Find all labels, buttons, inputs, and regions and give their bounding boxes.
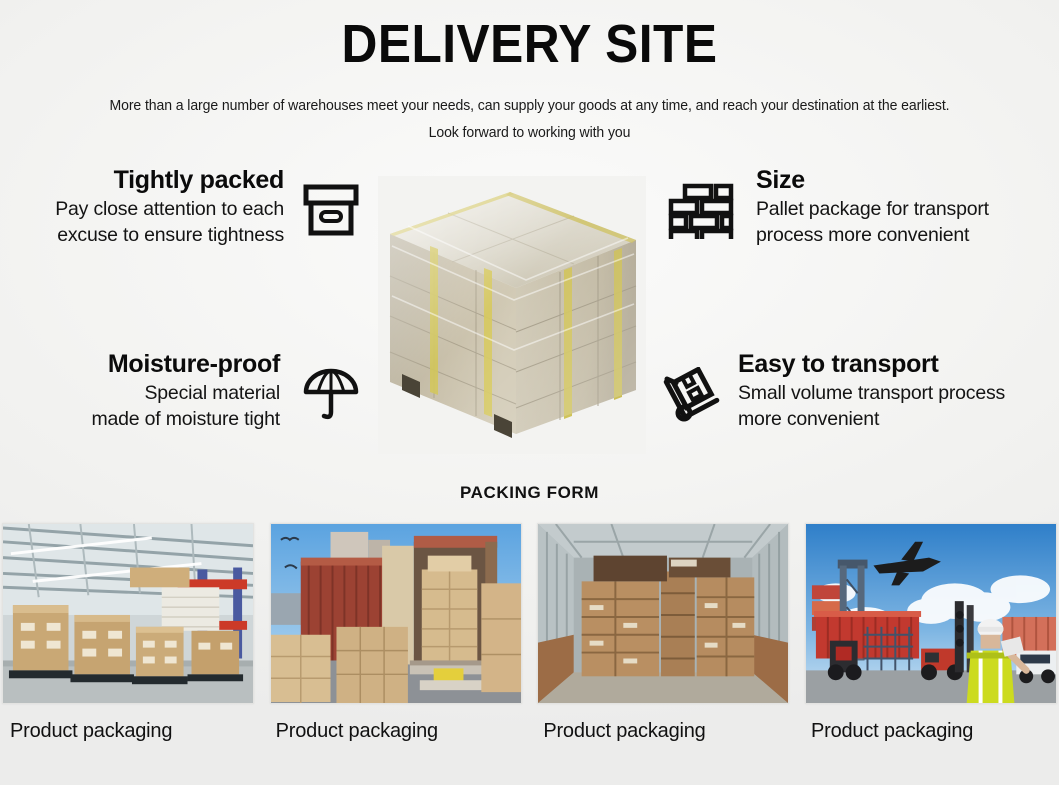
feature-desc-line-2: more convenient <box>738 407 1005 432</box>
wrapped-pallet-photo <box>378 176 646 454</box>
feature-title: Moisture-proof <box>91 350 280 379</box>
gallery-caption: Product packaging <box>805 720 1057 743</box>
gallery-item: Product packaging <box>805 523 1057 743</box>
feature-desc-line-2: excuse to ensure tightness <box>55 223 284 248</box>
packing-form-gallery: Product packaging <box>0 523 1059 743</box>
section-label-packing-form: PACKING FORM <box>0 483 1059 503</box>
feature-tightly-packed: Tightly packed Pay close attention to ea… <box>0 166 360 249</box>
feature-text: Size Pallet package for transport proces… <box>756 166 989 249</box>
feature-easy-to-transport: Easy to transport Small volume transport… <box>662 350 1059 433</box>
feature-title: Size <box>756 166 989 195</box>
feature-text: Easy to transport Small volume transport… <box>738 350 1005 433</box>
container-loading-photo[interactable] <box>270 523 522 704</box>
gallery-item: Product packaging <box>2 523 254 743</box>
gallery-caption: Product packaging <box>537 720 789 743</box>
feature-desc-line-2: made of moisture tight <box>91 407 280 432</box>
warehouse-interior-photo[interactable] <box>2 523 254 704</box>
hand-truck-icon <box>662 367 724 425</box>
gallery-caption: Product packaging <box>270 720 522 743</box>
page-header: DELIVERY SITE More than a large number o… <box>0 0 1059 148</box>
archive-box-icon <box>302 181 360 239</box>
feature-size: Size Pallet package for transport proces… <box>668 166 1059 249</box>
feature-desc-line-1: Pay close attention to each <box>55 197 284 222</box>
umbrella-icon <box>302 366 360 424</box>
feature-text: Moisture-proof Special material made of … <box>91 350 280 433</box>
feature-title: Easy to transport <box>738 350 1005 379</box>
port-logistics-photo[interactable] <box>805 523 1057 704</box>
feature-text: Tightly packed Pay close attention to ea… <box>55 166 284 249</box>
feature-desc-line-2: process more convenient <box>756 223 989 248</box>
subtitle-line-2: Look forward to working with you <box>16 120 1043 148</box>
gallery-item: Product packaging <box>537 523 789 743</box>
feature-desc-line-1: Pallet package for transport <box>756 197 989 222</box>
feature-moisture-proof: Moisture-proof Special material made of … <box>0 350 360 433</box>
page-title: DELIVERY SITE <box>42 16 1016 73</box>
page-subtitle: More than a large number of warehouses m… <box>16 93 1043 148</box>
brick-wall-icon <box>668 183 734 239</box>
gallery-item: Product packaging <box>270 523 522 743</box>
subtitle-line-1: More than a large number of warehouses m… <box>16 93 1043 121</box>
container-interior-photo[interactable] <box>537 523 789 704</box>
feature-desc-line-1: Special material <box>91 381 280 406</box>
feature-desc-line-1: Small volume transport process <box>738 381 1005 406</box>
gallery-caption: Product packaging <box>2 720 254 743</box>
feature-title: Tightly packed <box>55 166 284 195</box>
